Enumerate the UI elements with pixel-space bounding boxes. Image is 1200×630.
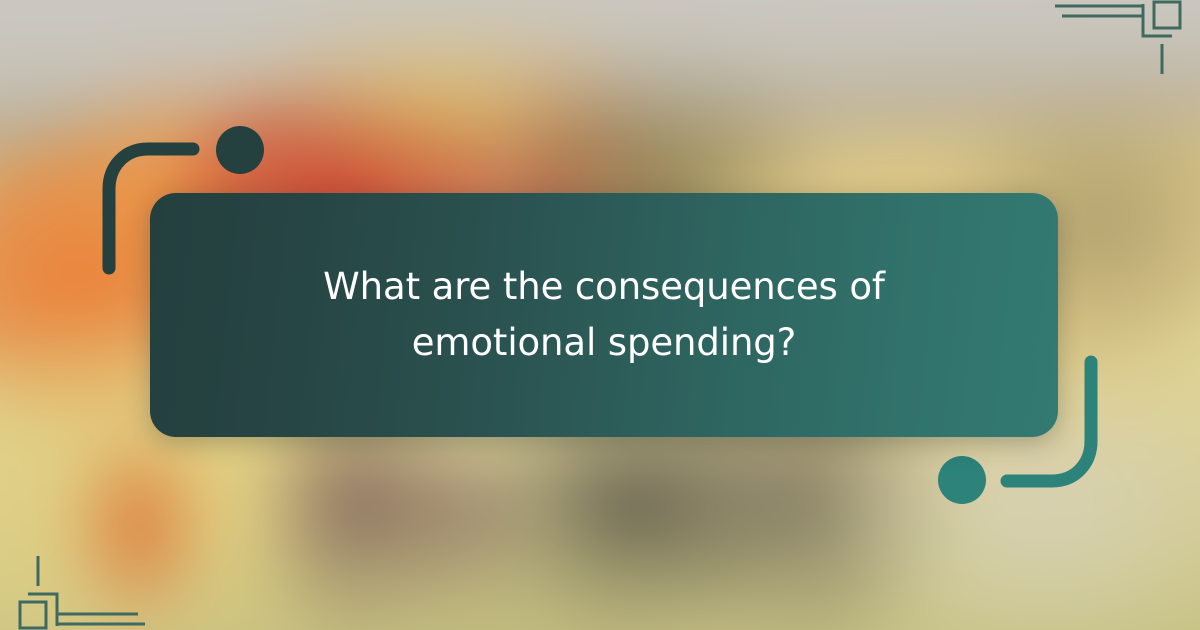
background-blob-grey-top: [0, 0, 1200, 151]
corner-ornament-bottom-left: [0, 552, 150, 630]
quote-text: What are the consequences of emotional s…: [248, 259, 960, 371]
corner-lines-icon: [1050, 0, 1200, 78]
graphic-canvas: What are the consequences of emotional s…: [0, 0, 1200, 630]
quote-card: What are the consequences of emotional s…: [150, 193, 1058, 437]
corner-lines-icon: [0, 552, 150, 630]
decor-dot-bottom-right: [938, 456, 986, 504]
decor-dot-top-left: [216, 126, 264, 174]
corner-ornament-top-right: [1050, 0, 1200, 78]
